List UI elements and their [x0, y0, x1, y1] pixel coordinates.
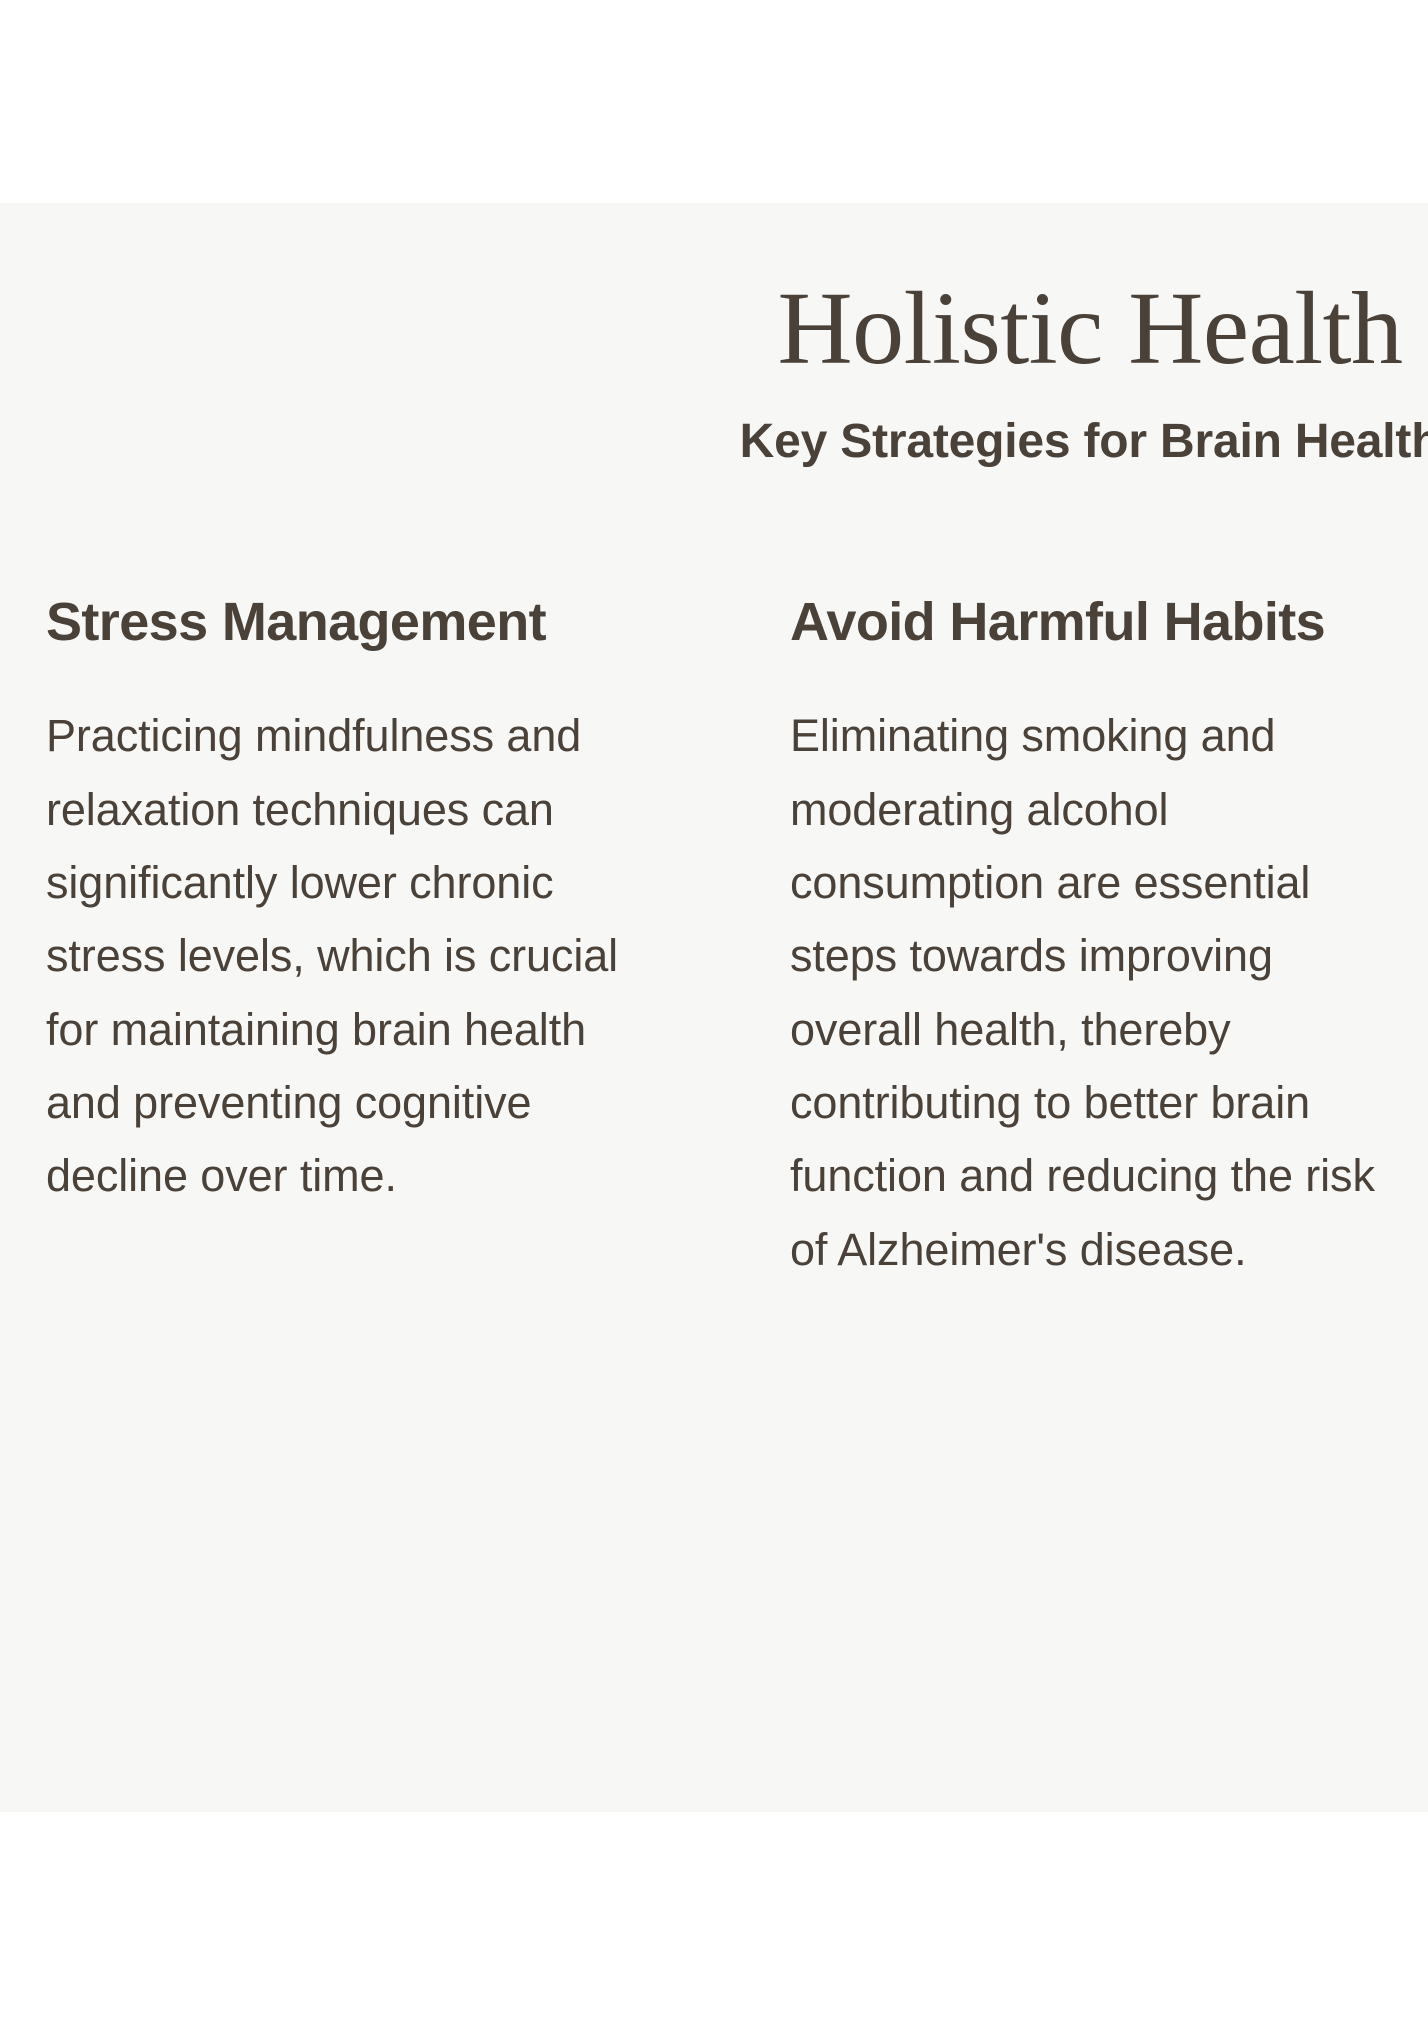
infographic-header: Holistic Health Key Strategies for Brain…	[0, 203, 1428, 471]
strategy-column-stress-management: Stress Management Practicing mindfulness…	[46, 591, 670, 1213]
column-body: Eliminating smoking and moderating alcoh…	[790, 699, 1414, 1286]
strategy-columns: Stress Management Practicing mindfulness…	[0, 591, 1428, 1286]
page-root: Holistic Health Key Strategies for Brain…	[0, 0, 1428, 2018]
infographic-card: Holistic Health Key Strategies for Brain…	[0, 203, 1428, 1812]
strategy-column-avoid-harmful-habits: Avoid Harmful Habits Eliminating smoking…	[790, 591, 1414, 1286]
page-title: Holistic Health	[0, 271, 1428, 387]
column-heading: Stress Management	[46, 591, 670, 653]
page-subtitle: Key Strategies for Brain Health	[0, 413, 1428, 471]
column-heading: Avoid Harmful Habits	[790, 591, 1414, 653]
column-body: Practicing mindfulness and relaxation te…	[46, 699, 670, 1212]
